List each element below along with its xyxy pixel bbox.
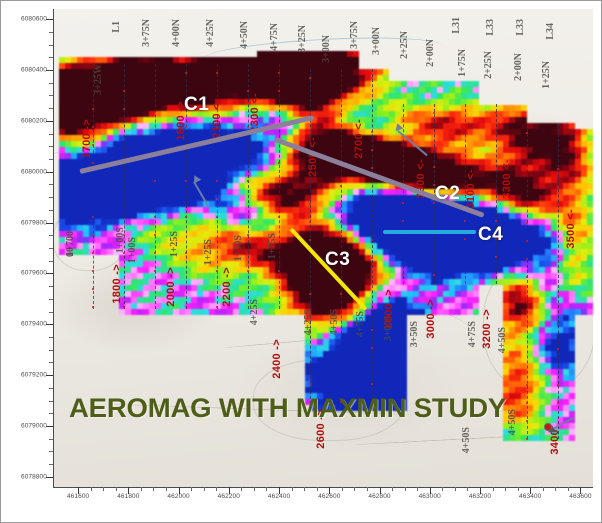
survey-station-dot xyxy=(92,234,94,236)
grid-line-label: L31 xyxy=(451,17,462,34)
y-tick-major xyxy=(46,426,53,427)
survey-station-dot xyxy=(340,185,342,187)
x-tick-label: 463600 xyxy=(569,493,591,500)
x-tick-label: 461600 xyxy=(67,493,89,500)
survey-station-dot xyxy=(371,329,373,331)
anomaly-station-label: 2000 -> xyxy=(165,267,177,307)
y-tick-label: 6079200 xyxy=(21,372,47,379)
x-tick-minor xyxy=(568,487,569,491)
y-tick-minor xyxy=(49,57,53,58)
conductor-label-c1: C1 xyxy=(184,94,209,116)
survey-station-dot xyxy=(185,180,187,182)
x-tick-minor xyxy=(116,487,117,491)
anomaly-station-label: 3300 <- xyxy=(501,159,513,199)
survey-station-dot xyxy=(278,162,280,164)
conductor-label-c3: C3 xyxy=(325,249,350,271)
y-tick-label: 6080600 xyxy=(21,16,47,23)
grid-line-label: 1+25S xyxy=(169,231,180,257)
survey-station-dot xyxy=(464,220,466,222)
survey-station-dot xyxy=(526,168,528,170)
grid-line-label: L1 xyxy=(111,21,122,33)
survey-station-dot xyxy=(216,216,218,218)
survey-station-dot xyxy=(340,293,342,295)
survey-line xyxy=(93,64,94,309)
grid-line-label: 00 xyxy=(65,247,76,257)
survey-station-dot xyxy=(371,149,373,151)
anomaly-station-label: 1700 -> xyxy=(81,119,93,159)
conductor-label-c4: C4 xyxy=(478,224,503,246)
survey-station-dot xyxy=(433,166,435,168)
survey-station-dot xyxy=(371,239,373,241)
survey-station-dot xyxy=(154,234,156,236)
x-tick-minor xyxy=(191,487,192,491)
survey-station-dot xyxy=(371,131,373,133)
survey-line xyxy=(527,124,528,439)
y-tick-minor xyxy=(49,197,53,198)
survey-station-dot xyxy=(526,132,528,134)
grid-line-label: L34 xyxy=(545,23,556,40)
x-tick-minor xyxy=(354,487,355,491)
x-tick-minor xyxy=(204,487,205,491)
survey-station-dot xyxy=(92,162,94,164)
y-tick-major xyxy=(46,172,53,173)
station-marker-dot xyxy=(544,423,552,431)
anomaly-station-label: 3000 -> xyxy=(425,299,437,339)
y-tick-label: 6080400 xyxy=(21,67,47,74)
x-tick-minor xyxy=(91,487,92,491)
survey-station-dot xyxy=(309,221,311,223)
survey-station-dot xyxy=(247,90,249,92)
grid-line-label: 4+50S xyxy=(497,327,508,353)
anomaly-station-label: 3500 <- xyxy=(565,209,577,249)
grid-line-label: 1+75N xyxy=(457,49,468,77)
x-tick-minor xyxy=(153,487,154,491)
grid-line-label: 4+25S xyxy=(249,299,260,325)
survey-station-dot xyxy=(309,131,311,133)
grid-line-label: 1+50S xyxy=(233,235,244,261)
survey-station-dot xyxy=(216,306,218,308)
survey-line xyxy=(279,64,280,309)
grid-line-label: L33 xyxy=(515,19,526,36)
y-tick-major xyxy=(46,375,53,376)
y-tick-minor xyxy=(49,95,53,96)
survey-station-dot xyxy=(526,240,528,242)
survey-station-dot xyxy=(557,384,559,386)
y-tick-minor xyxy=(49,248,53,249)
anomaly-station-label: 2800 -> xyxy=(383,289,395,329)
survey-line xyxy=(558,124,559,439)
x-tick-minor xyxy=(166,487,167,491)
x-tick-minor xyxy=(555,487,556,491)
raster-cell xyxy=(473,309,479,315)
x-tick-minor xyxy=(103,487,104,491)
survey-station-dot xyxy=(371,383,373,385)
survey-line xyxy=(403,104,404,284)
survey-station-dot xyxy=(495,220,497,222)
survey-station-dot xyxy=(92,252,94,254)
y-tick-minor xyxy=(49,159,53,160)
y-tick-minor xyxy=(49,312,53,313)
survey-station-dot xyxy=(247,180,249,182)
x-tick-minor xyxy=(254,487,255,491)
survey-station-dot xyxy=(278,216,280,218)
map-title: AEROMAG WITH MAXMIN STUDY xyxy=(69,393,506,424)
y-tick-major xyxy=(46,477,53,478)
x-tick-minor xyxy=(141,487,142,491)
grid-line-label: 3+50S xyxy=(409,321,420,347)
survey-station-dot xyxy=(557,402,559,404)
survey-station-dot xyxy=(526,438,528,440)
grid-line-label: 2+00N xyxy=(425,39,436,67)
x-tick-minor xyxy=(467,487,468,491)
y-tick-minor xyxy=(49,401,53,402)
survey-station-dot xyxy=(402,202,404,204)
x-tick-minor xyxy=(317,487,318,491)
y-tick-major xyxy=(46,121,53,122)
y-tick-minor xyxy=(49,210,53,211)
grid-line-label: 3+75N xyxy=(349,21,360,49)
survey-station-dot xyxy=(526,222,528,224)
survey-station-dot xyxy=(433,274,435,276)
grid-line-label: 3+25N xyxy=(297,25,308,53)
survey-station-dot xyxy=(557,204,559,206)
survey-station-dot xyxy=(402,220,404,222)
grid-line-label: 4+75N xyxy=(269,23,280,51)
survey-station-dot xyxy=(464,238,466,240)
y-tick-major xyxy=(46,223,53,224)
raster-cell xyxy=(569,435,575,441)
x-tick-label: 462000 xyxy=(167,493,189,500)
x-axis-line xyxy=(53,487,593,488)
conductor-label-c2: C2 xyxy=(435,183,460,205)
grid-line-label: 4+00N xyxy=(171,19,182,47)
anomaly-station-label: 2200 -> xyxy=(221,267,233,307)
y-tick-minor xyxy=(49,362,53,363)
x-tick-label: 461800 xyxy=(117,493,139,500)
y-tick-major xyxy=(46,70,53,71)
conductor-line-c4 xyxy=(383,230,476,234)
survey-line xyxy=(341,69,342,404)
grid-line-label: 3+25W xyxy=(93,64,104,95)
grid-line-label: 4+50N xyxy=(239,21,250,49)
y-tick-minor xyxy=(49,299,53,300)
survey-station-dot xyxy=(278,72,280,74)
anomaly-station-label: 3100 <- xyxy=(465,169,477,209)
y-tick-major xyxy=(46,273,53,274)
survey-station-dot xyxy=(371,257,373,259)
survey-station-dot xyxy=(216,198,218,200)
x-tick-label: 463200 xyxy=(469,493,491,500)
x-tick-minor xyxy=(405,487,406,491)
y-tick-label: 6080000 xyxy=(21,168,47,175)
x-tick-minor xyxy=(493,487,494,491)
grid-line-label: 4+25S xyxy=(303,309,314,335)
survey-station-dot xyxy=(557,186,559,188)
grid-line-label: 4+75S xyxy=(467,321,478,347)
y-tick-major xyxy=(46,324,53,325)
anomaly-station-label: 2700 <- xyxy=(353,119,365,159)
survey-station-dot xyxy=(216,270,218,272)
survey-station-dot xyxy=(92,270,94,272)
y-tick-minor xyxy=(49,350,53,351)
survey-station-dot xyxy=(526,420,528,422)
y-tick-minor xyxy=(49,261,53,262)
x-tick-minor xyxy=(304,487,305,491)
survey-station-dot xyxy=(309,293,311,295)
y-tick-minor xyxy=(49,134,53,135)
survey-station-dot xyxy=(526,402,528,404)
survey-station-dot xyxy=(185,216,187,218)
grid-line-label: 3+00N xyxy=(321,35,332,63)
y-tick-minor xyxy=(49,184,53,185)
y-tick-minor xyxy=(49,108,53,109)
survey-station-dot xyxy=(123,108,125,110)
grid-line-label: 1+25N xyxy=(541,61,552,89)
survey-station-dot xyxy=(557,348,559,350)
x-tick-minor xyxy=(216,487,217,491)
survey-line xyxy=(372,69,373,404)
survey-line xyxy=(124,64,125,309)
x-tick-minor xyxy=(455,487,456,491)
survey-station-dot xyxy=(371,347,373,349)
x-tick-label: 462600 xyxy=(318,493,340,500)
survey-station-dot xyxy=(402,274,404,276)
x-tick-minor xyxy=(518,487,519,491)
survey-station-dot xyxy=(371,167,373,169)
survey-station-dot xyxy=(154,252,156,254)
x-tick-minor xyxy=(442,487,443,491)
survey-station-dot xyxy=(123,306,125,308)
aeromag-map-figure: L13+25W3+75N4+00N4+25N4+50N4+75N3+25N3+0… xyxy=(0,0,602,523)
survey-station-dot xyxy=(216,180,218,182)
grid-line-label: 3+00N xyxy=(371,27,382,55)
survey-station-dot xyxy=(92,216,94,218)
x-tick-minor xyxy=(505,487,506,491)
survey-station-dot xyxy=(340,113,342,115)
grid-line-label: 1+00S xyxy=(115,227,126,253)
survey-station-dot xyxy=(278,270,280,272)
survey-station-dot xyxy=(309,77,311,79)
x-tick-minor xyxy=(241,487,242,491)
y-tick-label: 6079800 xyxy=(21,219,47,226)
y-tick-label: 6079600 xyxy=(21,270,47,277)
x-tick-label: 463400 xyxy=(519,493,541,500)
survey-station-dot xyxy=(247,270,249,272)
y-tick-minor xyxy=(49,413,53,414)
grid-line-label: 4+50S xyxy=(329,309,340,335)
grid-line-label: L33 xyxy=(485,19,496,36)
anomaly-station-label: 1800 -> xyxy=(111,264,123,304)
x-tick-minor xyxy=(342,487,343,491)
survey-station-dot xyxy=(309,239,311,241)
anomaly-station-label: 3200 -> xyxy=(481,309,493,349)
survey-line xyxy=(155,64,156,309)
grid-line-label: 4+25N xyxy=(205,19,216,47)
y-tick-label: 6080200 xyxy=(21,117,47,124)
survey-station-dot xyxy=(526,258,528,260)
y-tick-minor xyxy=(49,83,53,84)
grid-line-label: 4+50S xyxy=(507,409,518,435)
survey-station-dot xyxy=(92,288,94,290)
survey-station-dot xyxy=(154,270,156,272)
y-tick-minor xyxy=(49,286,53,287)
survey-station-dot xyxy=(216,72,218,74)
survey-station-dot xyxy=(154,180,156,182)
anomaly-station-label: 2400 -> xyxy=(271,339,283,379)
survey-station-dot xyxy=(92,306,94,308)
y-tick-label: 6079400 xyxy=(21,321,47,328)
x-tick-minor xyxy=(367,487,368,491)
x-tick-minor xyxy=(392,487,393,491)
survey-station-dot xyxy=(278,90,280,92)
grid-line-label: 2+25N xyxy=(483,51,494,79)
x-tick-minor xyxy=(543,487,544,491)
x-tick-minor xyxy=(292,487,293,491)
grid-line-label: 4+75S xyxy=(355,311,366,337)
survey-station-dot xyxy=(557,168,559,170)
x-tick-label: 462200 xyxy=(218,493,240,500)
y-tick-minor xyxy=(49,337,53,338)
raster-cell xyxy=(587,309,593,315)
survey-station-dot xyxy=(309,383,311,385)
survey-station-dot xyxy=(185,72,187,74)
grid-line-label: 2+25N xyxy=(399,31,410,59)
x-tick-label: 462400 xyxy=(268,493,290,500)
survey-station-dot xyxy=(154,216,156,218)
y-tick-minor xyxy=(49,146,53,147)
y-tick-label: 6078800 xyxy=(21,473,47,480)
survey-station-dot xyxy=(526,384,528,386)
grid-line-label: 2+00N xyxy=(513,53,524,81)
anomaly-station-label: 2100 <- xyxy=(211,99,223,139)
y-tick-minor xyxy=(49,45,53,46)
y-tick-minor xyxy=(49,464,53,465)
grid-line-label: 1+00S xyxy=(127,237,138,263)
x-tick-minor xyxy=(266,487,267,491)
grid-line-label: 4+50S xyxy=(461,427,472,453)
y-tick-minor xyxy=(49,388,53,389)
y-tick-minor xyxy=(49,32,53,33)
x-tick-minor xyxy=(417,487,418,491)
survey-station-dot xyxy=(340,221,342,223)
x-tick-label: 463000 xyxy=(419,493,441,500)
survey-station-dot xyxy=(185,252,187,254)
grid-line-label: 1+25S xyxy=(203,239,214,265)
y-tick-major xyxy=(46,19,53,20)
x-tick-label: 462800 xyxy=(368,493,390,500)
grid-line-label: 3+75N xyxy=(141,19,152,47)
survey-station-dot xyxy=(371,77,373,79)
y-tick-minor xyxy=(49,451,53,452)
survey-station-dot xyxy=(433,112,435,114)
survey-station-dot xyxy=(495,112,497,114)
survey-station-dot xyxy=(309,203,311,205)
y-axis-line xyxy=(53,9,54,487)
survey-station-dot xyxy=(340,203,342,205)
survey-station-dot xyxy=(526,276,528,278)
survey-station-dot xyxy=(123,90,125,92)
y-tick-label: 6079000 xyxy=(21,422,47,429)
y-tick-minor xyxy=(49,439,53,440)
survey-station-dot xyxy=(495,256,497,258)
survey-station-dot xyxy=(247,234,249,236)
y-tick-minor xyxy=(49,235,53,236)
survey-station-dot xyxy=(92,108,94,110)
grid-line-label: 1+75S xyxy=(267,233,278,259)
